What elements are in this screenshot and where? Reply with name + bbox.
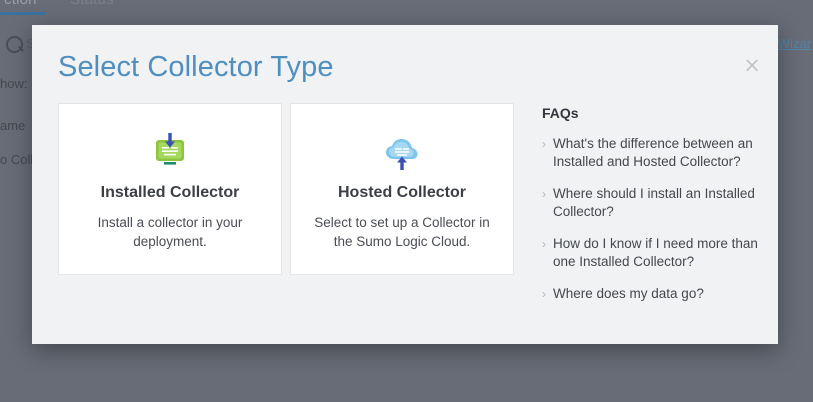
faq-item-label: Where should I install an Installed Coll… <box>553 185 760 221</box>
chevron-right-icon: › <box>542 185 546 221</box>
chevron-right-icon: › <box>542 285 546 303</box>
faq-item[interactable]: › Where should I install an Installed Co… <box>542 185 760 221</box>
installed-collector-description: Install a collector in your deployment. <box>80 213 260 251</box>
background-wizard-link[interactable]: Wizar <box>778 36 811 51</box>
collector-type-options: Installed Collector Install a collector … <box>58 103 514 275</box>
background-tab-status[interactable]: Status <box>70 0 114 8</box>
faq-panel: FAQs › What's the difference between an … <box>542 103 760 317</box>
background-tab-active-underline <box>0 12 45 15</box>
faq-item-label: What's the difference between an Install… <box>553 135 760 171</box>
background-bottom-strip <box>0 376 813 402</box>
close-icon[interactable]: × <box>740 53 764 77</box>
hosted-collector-title: Hosted Collector <box>338 184 466 202</box>
hosted-collector-card[interactable]: Hosted Collector Select to set up a Coll… <box>290 103 514 275</box>
background-show-label: how: <box>0 76 27 91</box>
background-tab-collection[interactable]: ction <box>4 0 37 8</box>
hosted-collector-description: Select to set up a Collector in the Sumo… <box>312 213 492 251</box>
select-collector-type-dialog: × Select Collector Type <box>32 25 778 344</box>
background-name-column-header: ame <box>0 118 25 133</box>
search-icon[interactable] <box>6 36 23 53</box>
dialog-body: Installed Collector Install a collector … <box>58 103 768 344</box>
dialog-title: Select Collector Type <box>58 51 334 84</box>
installed-collector-title: Installed Collector <box>101 184 240 202</box>
faq-item-label: How do I know if I need more than one In… <box>553 235 760 271</box>
background-tabbar: ction Status <box>0 0 813 16</box>
faq-item[interactable]: › Where does my data go? <box>542 285 760 303</box>
monitor-download-icon <box>148 130 192 176</box>
cloud-upload-icon <box>380 130 424 176</box>
chevron-right-icon: › <box>542 235 546 271</box>
faq-item[interactable]: › How do I know if I need more than one … <box>542 235 760 271</box>
faq-item[interactable]: › What's the difference between an Insta… <box>542 135 760 171</box>
faq-heading: FAQs <box>542 105 760 121</box>
background-no-collectors-text: o Coll <box>0 152 33 167</box>
installed-collector-card[interactable]: Installed Collector Install a collector … <box>58 103 282 275</box>
chevron-right-icon: › <box>542 135 546 171</box>
faq-item-label: Where does my data go? <box>553 285 760 303</box>
